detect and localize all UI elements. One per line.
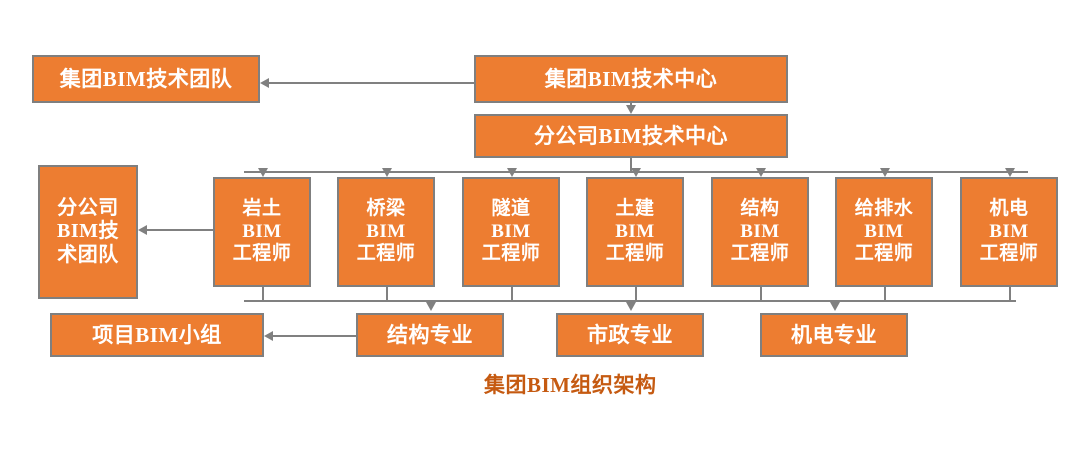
connector-engineer-2-to-bus (386, 287, 388, 300)
arrow-bus-to-engineer-2-head (382, 168, 392, 177)
node-engineer-3[interactable]: 隧道 BIM 工程师 (462, 177, 560, 287)
arrow-engineer-to-branchteam-head (138, 225, 147, 235)
connector-engineer-7-to-bus (1009, 287, 1011, 300)
arrow-bus-to-engineer-1-head (258, 168, 268, 177)
connector-engineer-5-to-bus (760, 287, 762, 300)
arrow-bus-to-engineer-4-head (631, 168, 641, 177)
arrow-groupcenter-to-branchcenter-head (626, 105, 636, 114)
node-engineer-2[interactable]: 桥梁 BIM 工程师 (337, 177, 435, 287)
node-engineer-5[interactable]: 结构 BIM 工程师 (711, 177, 809, 287)
node-specialty-2[interactable]: 市政专业 (556, 313, 704, 357)
arrow-center-to-team-head (260, 78, 269, 88)
connector-engineer-6-to-bus (884, 287, 886, 300)
node-group-bim-team[interactable]: 集团BIM技术团队 (32, 55, 260, 103)
diagram-caption: 集团BIM组织架构 (484, 369, 657, 399)
node-engineer-1[interactable]: 岩土 BIM 工程师 (213, 177, 311, 287)
node-engineer-7[interactable]: 机电 BIM 工程师 (960, 177, 1058, 287)
connector-specialty-to-projectgroup (272, 335, 356, 337)
org-chart-diagram: 集团BIM技术团队 集团BIM技术中心 分公司BIM技术中心 分公司 BIM技 … (0, 0, 1080, 469)
connector-engineer-1-to-bus (262, 287, 264, 300)
node-branch-bim-center[interactable]: 分公司BIM技术中心 (474, 114, 788, 158)
node-specialty-3[interactable]: 机电专业 (760, 313, 908, 357)
connector-engineer-4-to-bus (635, 287, 637, 300)
arrow-bus-to-specialty-3-head (830, 302, 840, 311)
arrow-specialty-to-projectgroup-head (264, 331, 273, 341)
arrow-bus-to-specialty-1-head (426, 302, 436, 311)
node-specialty-1[interactable]: 结构专业 (356, 313, 504, 357)
node-engineer-6[interactable]: 给排水 BIM 工程师 (835, 177, 933, 287)
node-engineer-4[interactable]: 土建 BIM 工程师 (586, 177, 684, 287)
connector-engineer-to-branchteam (146, 229, 214, 231)
arrow-bus-to-engineer-5-head (756, 168, 766, 177)
node-group-bim-center[interactable]: 集团BIM技术中心 (474, 55, 788, 103)
connector-center-to-team (268, 82, 474, 84)
arrow-bus-to-specialty-2-head (626, 302, 636, 311)
node-project-bim-group[interactable]: 项目BIM小组 (50, 313, 264, 357)
arrow-bus-to-engineer-3-head (507, 168, 517, 177)
arrow-bus-to-engineer-7-head (1005, 168, 1015, 177)
connector-engineer-3-to-bus (511, 287, 513, 300)
arrow-bus-to-engineer-6-head (880, 168, 890, 177)
node-branch-bim-team[interactable]: 分公司 BIM技 术团队 (38, 165, 138, 299)
